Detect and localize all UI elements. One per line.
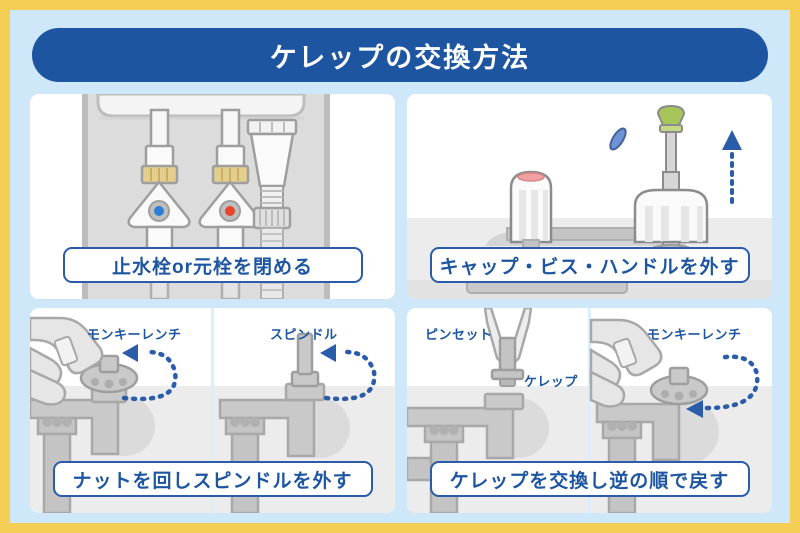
step-panel-4: ピンセット ケレップ モンキーレンチ ケレップを交換し逆の順で戻す: [407, 308, 772, 513]
step-4-caption: ケレップを交換し逆の順で戻す: [430, 461, 750, 497]
step-panel-3: モンキーレンチ スピンドル ナットを回しスピンドルを外す: [30, 308, 395, 513]
label-tweezers: ピンセット: [425, 324, 493, 343]
label-spindle: スピンドル: [270, 324, 338, 343]
label-monkey-wrench: モンキーレンチ: [87, 324, 182, 343]
title-banner: ケレップの交換方法: [32, 28, 768, 82]
step-panel-2: キャップ・ビス・ハンドルを外す: [407, 94, 772, 299]
label-kerep: ケレップ: [524, 371, 578, 390]
handle-cap-icon: [511, 172, 551, 242]
infographic-root: ケレップの交換方法: [10, 10, 790, 523]
step-3-caption: ナットを回しスピンドルを外す: [53, 461, 373, 497]
step-1-caption: 止水栓or元栓を閉める: [63, 247, 363, 283]
step-panel-1: 止水栓or元栓を閉める: [30, 94, 395, 299]
page-title: ケレップの交換方法: [270, 36, 530, 75]
step-2-caption: キャップ・ビス・ハンドルを外す: [430, 247, 750, 283]
cold-marker-icon: [154, 206, 164, 216]
label-monkey-wrench-2: モンキーレンチ: [647, 324, 742, 343]
hot-marker-icon: [225, 206, 235, 216]
